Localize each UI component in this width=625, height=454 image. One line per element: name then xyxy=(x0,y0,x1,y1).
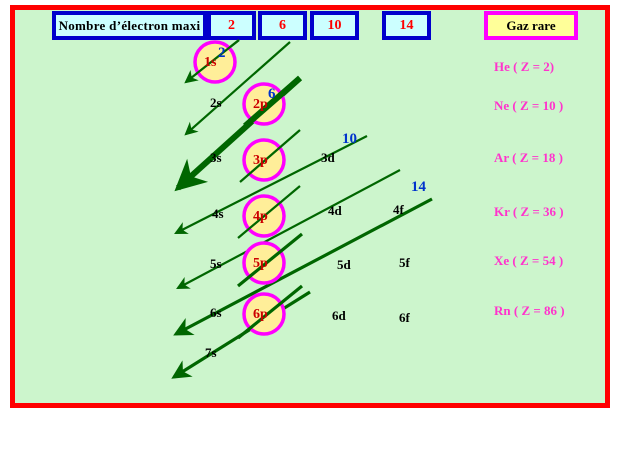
orbital-label-4s: 4s xyxy=(212,206,224,222)
orbital-label-1s: 1s xyxy=(204,55,216,71)
inline-count-10: 10 xyxy=(342,131,357,148)
orbital-label-6s: 6s xyxy=(210,305,222,321)
orbital-label-4f: 4f xyxy=(393,202,404,218)
noble-gas-kr: Kr ( Z = 36 ) xyxy=(494,204,564,220)
orbital-label-5s: 5s xyxy=(210,256,222,272)
orbital-label-3d: 3d xyxy=(321,150,335,166)
orbital-label-6d: 6d xyxy=(332,308,346,324)
orbital-label-2p: 2p xyxy=(253,97,268,113)
orbital-label-2s: 2s xyxy=(210,95,222,111)
noble-gas-rn: Rn ( Z = 86 ) xyxy=(494,303,565,319)
orbital-label-6f: 6f xyxy=(399,310,410,326)
diagram-canvas: Nombre d’électron maxi 2 6 10 14 Gaz rar… xyxy=(0,0,625,454)
orbital-label-5f: 5f xyxy=(399,255,410,271)
orbital-label-3p: 3p xyxy=(253,153,268,169)
inline-count-2: 2 xyxy=(218,45,226,62)
orbital-label-3s: 3s xyxy=(210,150,222,166)
orbital-label-5d: 5d xyxy=(337,257,351,273)
noble-gas-he: He ( Z = 2) xyxy=(494,59,554,75)
noble-gas-ar: Ar ( Z = 18 ) xyxy=(494,150,563,166)
orbital-label-6p: 6p xyxy=(253,307,268,323)
inline-count-14: 14 xyxy=(411,179,426,196)
orbital-label-7s: 7s xyxy=(205,345,217,361)
noble-gas-ne: Ne ( Z = 10 ) xyxy=(494,98,563,114)
noble-gas-xe: Xe ( Z = 54 ) xyxy=(494,253,563,269)
inline-count-6: 6 xyxy=(268,86,276,103)
orbital-label-5p: 5p xyxy=(253,256,268,272)
orbital-label-4d: 4d xyxy=(328,203,342,219)
orbital-label-4p: 4p xyxy=(253,209,268,225)
